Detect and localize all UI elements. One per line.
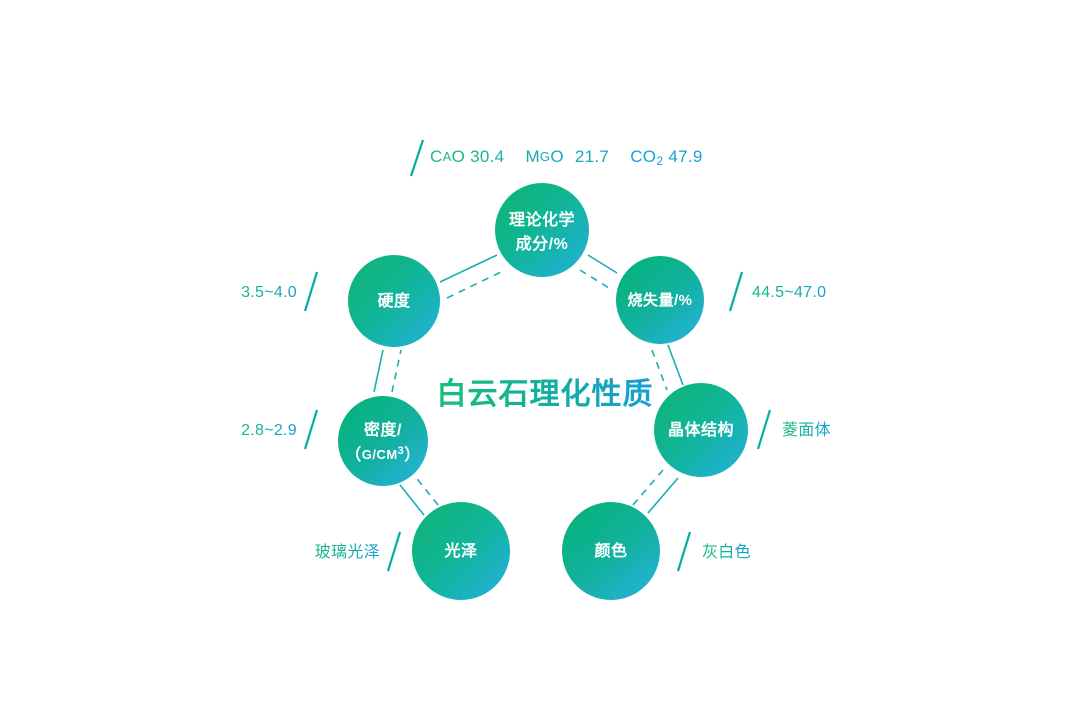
connector-hardness-composition (440, 255, 503, 298)
node-label-crystal-structure: 晶体结构 (668, 420, 734, 439)
node-circle[interactable] (495, 183, 589, 277)
callout-loss-on-ignition: 44.5~47.0 (730, 272, 898, 311)
callout-value-luster: 玻璃光泽 (315, 543, 380, 561)
connector-density-hardness (374, 350, 401, 392)
callout-value-loss-on-ignition: 44.5~47.0 (752, 284, 826, 301)
node-chemical-composition[interactable]: 理论化学 成分/% (495, 183, 589, 277)
node-label-color: 颜色 (594, 541, 627, 560)
callout-value-density: 2.8~2.9 (241, 422, 297, 439)
node-luster[interactable]: 光泽 (412, 502, 510, 600)
node-label-chemical-composition-line1: 理论化学 (509, 210, 575, 229)
callout-chemical-composition: CAO 30.4 MGO 21.7 CO2 47.9 (411, 140, 703, 176)
node-label-hardness: 硬度 (377, 291, 411, 310)
connector-crystal-color (633, 470, 678, 513)
node-label-density-line2: （G/CM3） (345, 445, 421, 464)
callout-value-color: 灰白色 (702, 543, 751, 561)
cao-symbol: C (430, 147, 443, 166)
infographic-canvas: CAO 30.4 MGO 21.7 CO2 47.9 3.5~4.0 2.8~2… (0, 0, 1080, 720)
callout-hardness: 3.5~4.0 (172, 272, 317, 311)
node-label-luster: 光泽 (443, 541, 477, 560)
node-crystal-structure[interactable]: 晶体结构 (654, 383, 748, 477)
node-hardness[interactable]: 硬度 (348, 255, 440, 347)
callout-value-crystal-structure: 菱面体 (782, 421, 831, 439)
callout-luster: 玻璃光泽 (248, 532, 400, 571)
mgo-symbol: M (525, 147, 539, 166)
node-loss-on-ignition[interactable]: 烧失量/% (616, 256, 704, 344)
node-label-loss-on-ignition: 烧失量/% (627, 291, 692, 309)
connector-loss-crystal (652, 345, 683, 390)
node-color[interactable]: 颜色 (562, 502, 660, 600)
node-label-chemical-composition-line2: 成分/% (516, 234, 569, 253)
callout-value-chemical-composition: CAO 30.4 MGO 21.7 CO2 47.9 (430, 147, 703, 168)
connector-luster-density (400, 475, 438, 515)
callout-density: 2.8~2.9 (172, 410, 317, 449)
page-title: 白云石理化性质 (437, 378, 654, 411)
callout-color: 灰白色 (678, 532, 840, 571)
node-circle[interactable] (338, 396, 428, 486)
connector-color-luster (512, 546, 560, 563)
connector-composition-loss (580, 255, 617, 288)
dolomite-properties-diagram: CAO 30.4 MGO 21.7 CO2 47.9 3.5~4.0 2.8~2… (0, 0, 1080, 720)
co2-symbol: CO (630, 147, 656, 166)
node-label-density-line1: 密度/ (363, 420, 402, 439)
callout-value-hardness: 3.5~4.0 (241, 284, 297, 301)
node-density[interactable]: 密度/ （G/CM3） (338, 396, 428, 486)
callout-crystal-structure: 菱面体 (758, 410, 912, 449)
